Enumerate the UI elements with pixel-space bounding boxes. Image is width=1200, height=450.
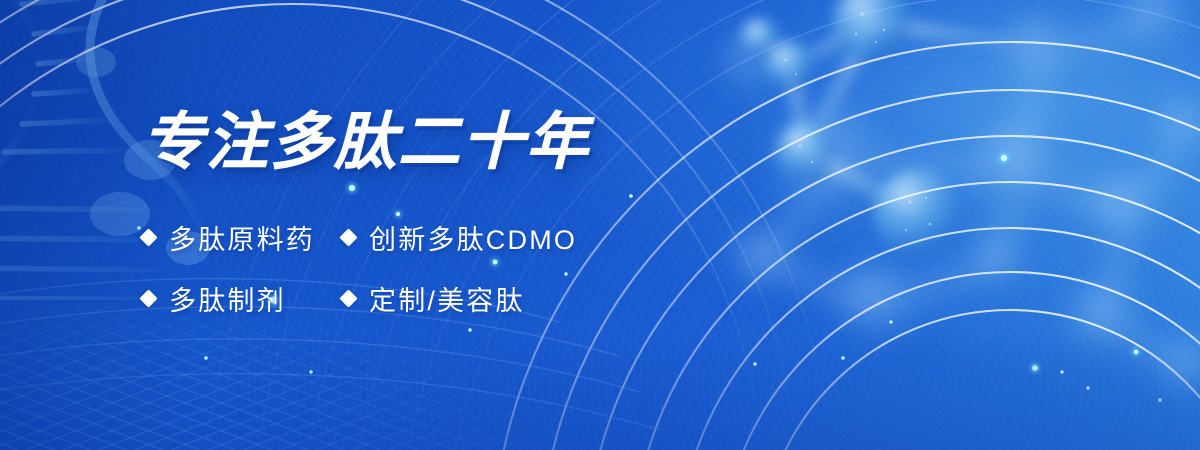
feature-item-peptide-formulation[interactable]: 多肽制剂	[142, 279, 342, 318]
banner-content: 专注多肽二十年 多肽原料药 创新多肽CDMO 多肽制剂	[142, 112, 702, 318]
page-title: 专注多肽二十年	[142, 112, 702, 174]
feature-label: 多肽原料药	[169, 218, 315, 257]
diamond-bullet-icon	[339, 228, 357, 246]
diamond-bullet-icon	[139, 228, 157, 246]
feature-item-peptide-api[interactable]: 多肽原料药	[142, 218, 342, 257]
feature-label: 定制/美容肽	[369, 279, 525, 318]
feature-item-innovative-cdmo[interactable]: 创新多肽CDMO	[342, 218, 577, 257]
feature-label: 多肽制剂	[169, 279, 286, 318]
feature-label: 创新多肽CDMO	[369, 218, 577, 257]
peptide-promo-banner: 专注多肽二十年 多肽原料药 创新多肽CDMO 多肽制剂	[0, 0, 1200, 450]
diamond-bullet-icon	[339, 289, 357, 307]
feature-item-custom-cosmetic-peptide[interactable]: 定制/美容肽	[342, 279, 525, 318]
feature-row: 多肽原料药 创新多肽CDMO	[142, 218, 702, 257]
diamond-bullet-icon	[139, 289, 157, 307]
feature-list: 多肽原料药 创新多肽CDMO 多肽制剂 定制/美容肽	[142, 218, 702, 318]
feature-row: 多肽制剂 定制/美容肽	[142, 279, 702, 318]
